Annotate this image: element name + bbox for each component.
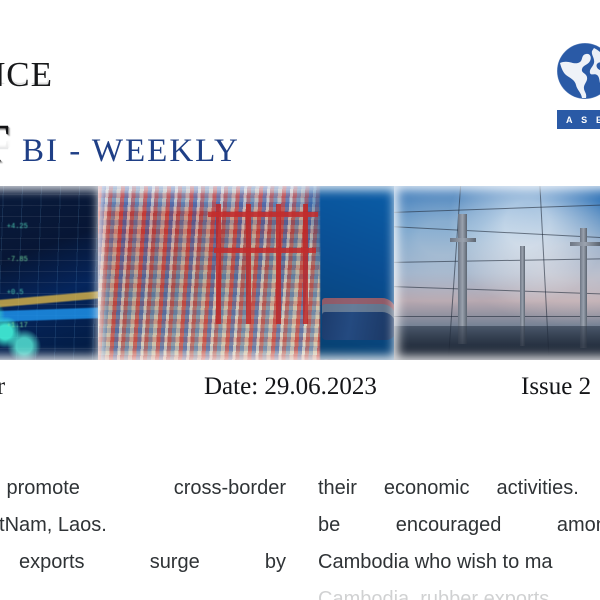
masthead-biweekly-word-reflection: BI - WEEKLY [22,137,240,142]
masthead: ND FINANCE ND FINANCE IGESTBI - WEEKLY I… [0,0,600,185]
publication-place: ypachpor [0,366,5,408]
masthead-title-line2-reflection: IGESTBI - WEEKLY [0,137,240,163]
crane-beam [208,212,318,217]
globe-icon [556,42,600,100]
issue-number: Issue 2 [521,366,591,408]
article-columns: topromotecross-border ent with VietNam, … [0,470,600,600]
newsletter-page: ND FINANCE ND FINANCE IGESTBI - WEEKLY I… [0,0,600,600]
body-line: Cambodia, rubber exports [318,581,600,600]
body-line: rubberexportssurgeby [0,544,286,581]
container-port-image [98,186,398,360]
substation-ground [394,326,600,360]
port-crane [246,204,251,324]
body-line: Cambodia who wish to ma [318,544,600,581]
left-article-column: topromotecross-border ent with VietNam, … [0,470,286,581]
body-line: theireconomicactivities.T [318,470,600,507]
crossarm [450,238,476,242]
crossarm [570,242,600,246]
container-ship [322,298,396,340]
financial-data-screen-image: 14 +4.25 27 -7.85 08 +0.5 92 +1.17 [0,186,102,360]
masthead-digest-word-reflection: IGEST [0,137,10,162]
banner-image-row: 14 +4.25 27 -7.85 08 +0.5 92 +1.17 [0,186,600,360]
logo-badge-text: A S E [557,110,600,129]
organization-logo: A S E [548,42,600,142]
masthead-title-line1-reflection: ND FINANCE [0,67,252,95]
port-crane [216,204,221,324]
issue-info-bar: ypachpor Date: 29.06.2023 Issue 2 [0,366,600,408]
utility-pole [458,214,467,344]
port-crane [303,204,308,324]
body-line: ent with VietNam, Laos. [0,507,286,544]
crane-beam [214,248,316,253]
port-crane [276,204,281,324]
publication-date: Date: 29.06.2023 [204,366,377,408]
right-article-column: theireconomicactivities.T beencouragedam… [318,470,600,600]
finance-screen-numbers: 14 +4.25 27 -7.85 08 +0.5 92 +1.17 [0,200,90,354]
power-transmission-image [394,186,600,360]
body-line: topromotecross-border [0,470,286,507]
body-line: beencouragedamong [318,507,600,544]
